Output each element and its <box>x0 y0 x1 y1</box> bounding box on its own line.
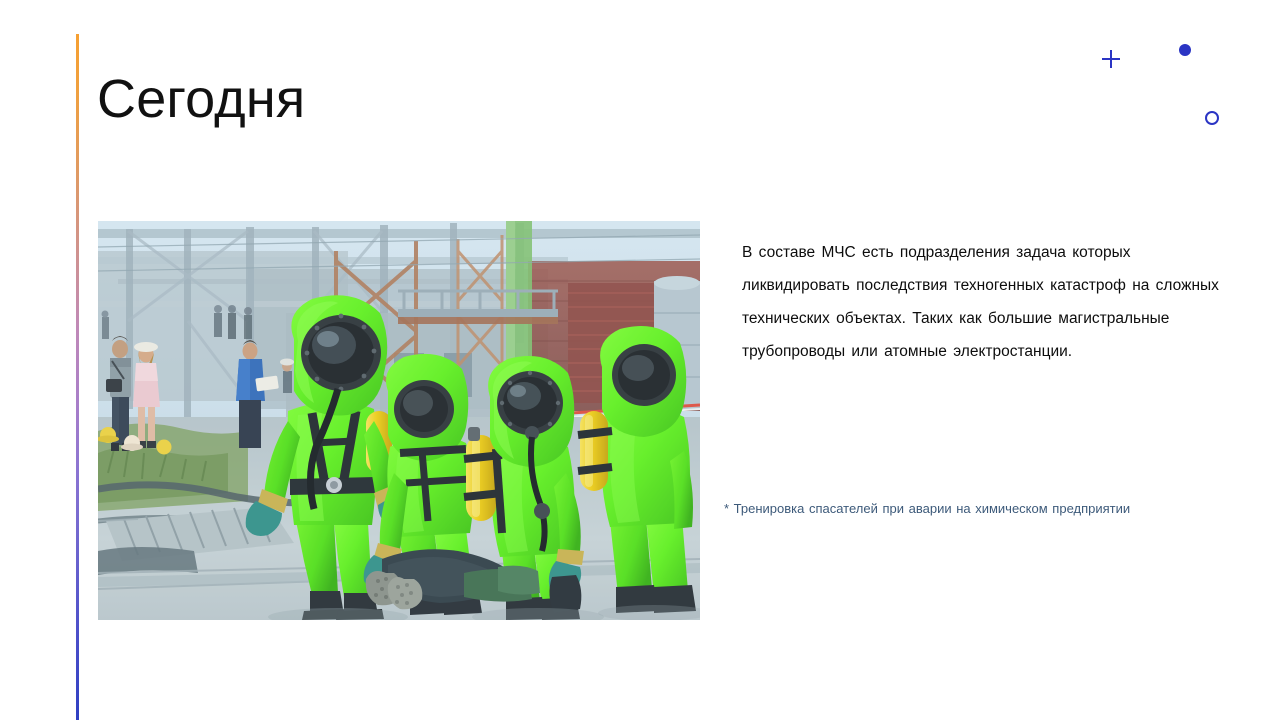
plus-icon <box>1102 50 1120 68</box>
vertical-accent-bar <box>76 34 79 720</box>
training-photo <box>98 221 700 620</box>
filled-dot-icon <box>1179 44 1191 56</box>
body-paragraph: В составе МЧС есть подразделения задача … <box>742 236 1220 368</box>
hollow-circle-icon <box>1205 111 1219 125</box>
page-title: Сегодня <box>97 72 305 126</box>
slide-canvas: Сегодня <box>0 0 1280 720</box>
photo-caption: * Тренировка спасателей при аварии на хи… <box>724 500 1224 518</box>
